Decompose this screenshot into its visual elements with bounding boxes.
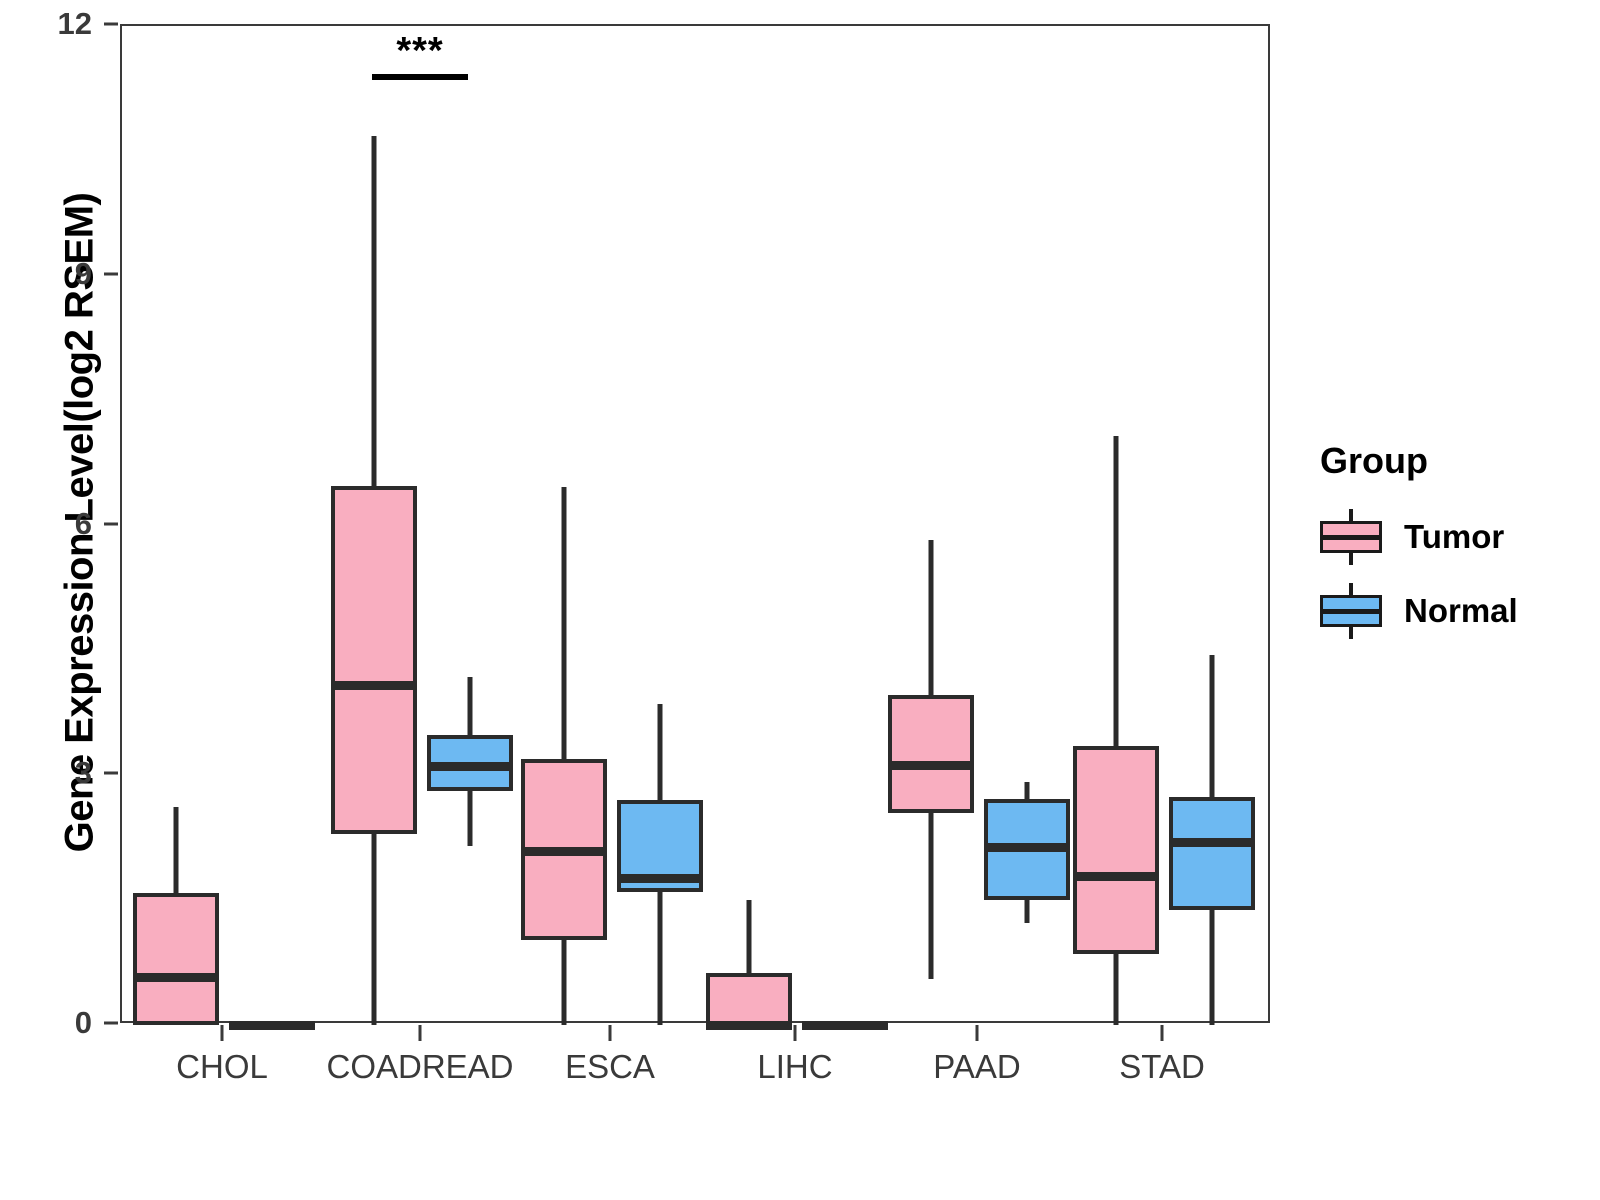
legend-item-normal[interactable]: Normal xyxy=(1320,580,1590,642)
boxplot-box xyxy=(888,695,974,812)
boxplot-median xyxy=(1073,872,1159,881)
boxplot-whisker-upper xyxy=(747,900,752,973)
x-tick-label-stad: STAD xyxy=(1119,1048,1205,1086)
boxplot-whisker-upper xyxy=(1210,655,1215,797)
chart-root: Gene Expression Level(log2 RSEM) 036912C… xyxy=(0,0,1600,1200)
boxplot-whisker-upper xyxy=(562,487,567,759)
y-tick-mark xyxy=(104,23,118,26)
legend-label: Normal xyxy=(1404,592,1518,630)
boxplot-whisker-upper xyxy=(1114,436,1119,747)
y-tick-mark xyxy=(104,1022,118,1025)
boxplot-whisker-lower xyxy=(1210,910,1215,1025)
boxplot-whisker-upper xyxy=(658,704,663,800)
significance-label: *** xyxy=(396,30,443,73)
boxplot-box xyxy=(1169,797,1255,910)
boxplot-box xyxy=(1073,746,1159,954)
x-tick-label-chol: CHOL xyxy=(176,1048,268,1086)
x-tick-label-coadread: COADREAD xyxy=(326,1048,513,1086)
boxplot-whisker-lower xyxy=(1025,900,1030,922)
x-tick-mark xyxy=(419,1025,422,1041)
boxplot-median xyxy=(521,847,607,856)
boxplot-box xyxy=(706,973,792,1025)
boxplot-whisker-upper xyxy=(929,540,934,695)
x-tick-mark xyxy=(794,1025,797,1041)
boxplot-whisker-lower xyxy=(1114,954,1119,1025)
boxplot-whisker-upper xyxy=(174,807,179,894)
boxplot-whisker-upper xyxy=(372,136,377,486)
legend-title: Group xyxy=(1320,440,1590,482)
legend-key-icon xyxy=(1320,587,1382,635)
y-tick-mark xyxy=(104,272,118,275)
legend-label: Tumor xyxy=(1404,518,1504,556)
boxplot-whisker-lower xyxy=(468,791,473,846)
y-tick-mark xyxy=(104,522,118,525)
boxplot-whisker-upper xyxy=(468,677,473,735)
boxplot-median xyxy=(706,1021,792,1030)
legend-entries: TumorNormal xyxy=(1320,506,1590,642)
plot-area xyxy=(122,26,1268,1021)
boxplot-whisker-lower xyxy=(929,813,934,980)
y-tick-label: 3 xyxy=(2,755,92,791)
x-tick-label-esca: ESCA xyxy=(565,1048,655,1086)
boxplot-whisker-upper xyxy=(1025,782,1030,799)
x-tick-mark xyxy=(221,1025,224,1041)
y-tick-mark xyxy=(104,772,118,775)
legend-item-tumor[interactable]: Tumor xyxy=(1320,506,1590,568)
x-tick-mark xyxy=(1161,1025,1164,1041)
boxplot-median xyxy=(133,973,219,982)
boxplot-flat-line xyxy=(229,1021,315,1030)
x-tick-mark xyxy=(976,1025,979,1041)
boxplot-median xyxy=(1169,838,1255,847)
boxplot-median xyxy=(331,681,417,690)
legend: Group TumorNormal xyxy=(1320,440,1590,654)
boxplot-whisker-lower xyxy=(658,892,663,1025)
y-tick-label: 12 xyxy=(2,6,92,42)
boxplot-box xyxy=(133,893,219,1025)
boxplot-median xyxy=(888,761,974,770)
boxplot-median xyxy=(617,874,703,883)
boxplot-median xyxy=(427,762,513,771)
boxplot-flat-line xyxy=(802,1021,888,1030)
x-tick-label-paad: PAAD xyxy=(933,1048,1020,1086)
y-tick-label: 6 xyxy=(2,506,92,542)
plot-panel xyxy=(120,24,1270,1023)
boxplot-whisker-lower xyxy=(372,834,377,1025)
x-tick-mark xyxy=(609,1025,612,1041)
significance-bar xyxy=(372,74,468,80)
x-tick-label-lihc: LIHC xyxy=(757,1048,832,1086)
y-tick-label: 9 xyxy=(2,256,92,292)
boxplot-whisker-lower xyxy=(562,940,567,1025)
legend-key-icon xyxy=(1320,513,1382,561)
boxplot-median xyxy=(984,843,1070,852)
boxplot-box xyxy=(331,486,417,835)
y-tick-label: 0 xyxy=(2,1005,92,1041)
